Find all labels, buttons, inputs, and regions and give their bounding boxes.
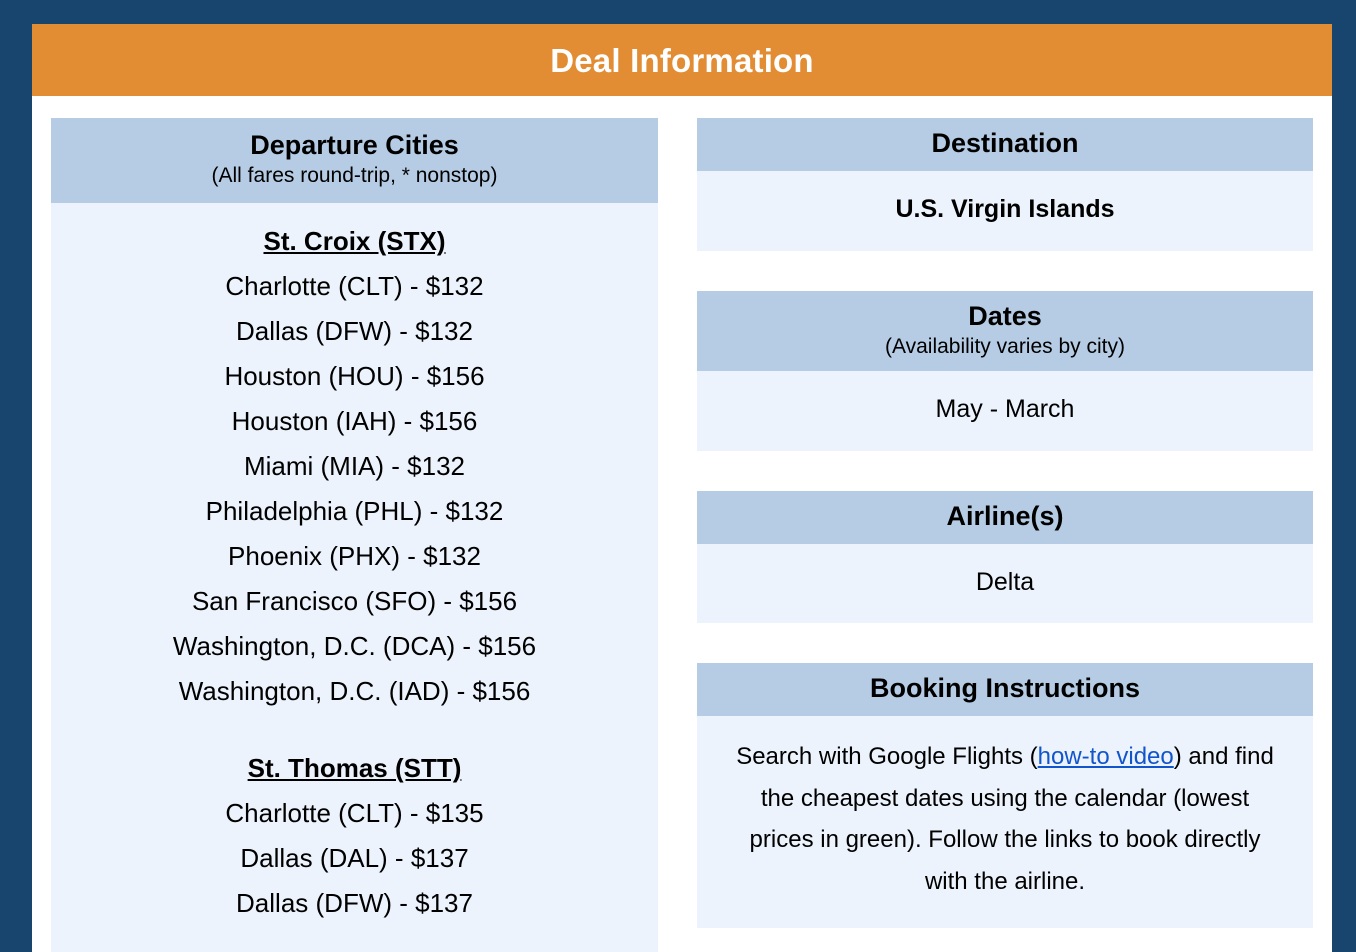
city-fare-row: Washington, D.C. (DCA) - $156 xyxy=(59,624,650,669)
booking-instructions-title: Booking Instructions xyxy=(707,672,1303,705)
city-group-stt: St. Thomas (STT) Charlotte (CLT) - $135 … xyxy=(59,748,650,926)
booking-text-before-link: Search with Google Flights ( xyxy=(736,743,1037,770)
how-to-video-link[interactable]: how-to video xyxy=(1038,743,1174,770)
departure-cities-title: Departure Cities xyxy=(61,129,648,162)
destination-card: Destination U.S. Virgin Islands xyxy=(697,118,1313,251)
dates-subtitle: (Availability varies by city) xyxy=(707,334,1303,360)
page-title: Deal Information xyxy=(550,44,814,77)
dates-header: Dates (Availability varies by city) xyxy=(697,291,1313,371)
booking-instructions-header: Booking Instructions xyxy=(697,663,1313,716)
destination-value: U.S. Virgin Islands xyxy=(697,171,1313,251)
right-column: Destination U.S. Virgin Islands Dates (A… xyxy=(697,118,1313,928)
booking-instructions-card: Booking Instructions Search with Google … xyxy=(697,663,1313,928)
city-fare-row: Charlotte (CLT) - $135 xyxy=(59,791,650,836)
city-fare-row: Dallas (DFW) - $137 xyxy=(59,881,650,926)
dates-title: Dates xyxy=(707,300,1303,333)
dates-card: Dates (Availability varies by city) May … xyxy=(697,291,1313,451)
deal-information-header-bar: Deal Information xyxy=(32,24,1332,96)
departure-cities-subtitle: (All fares round-trip, * nonstop) xyxy=(61,163,648,189)
city-fare-row: Houston (IAH) - $156 xyxy=(59,399,650,444)
airlines-header: Airline(s) xyxy=(697,491,1313,544)
dates-value: May - March xyxy=(697,371,1313,451)
city-fare-row: Miami (MIA) - $132 xyxy=(59,444,650,489)
departure-cities-body: St. Croix (STX) Charlotte (CLT) - $132 D… xyxy=(51,203,658,952)
deal-sheet: Deal Information Departure Cities (All f… xyxy=(32,24,1332,952)
city-fare-row: Dallas (DAL) - $137 xyxy=(59,836,650,881)
airlines-value: Delta xyxy=(697,544,1313,624)
airlines-card: Airline(s) Delta xyxy=(697,491,1313,624)
departure-cities-header: Departure Cities (All fares round-trip, … xyxy=(51,118,658,203)
city-fare-row: Houston (HOU) - $156 xyxy=(59,354,650,399)
airlines-title: Airline(s) xyxy=(707,500,1303,533)
city-fare-row: Washington, D.C. (IAD) - $156 xyxy=(59,669,650,714)
page-root: Deal Information Departure Cities (All f… xyxy=(0,0,1356,952)
left-column: Departure Cities (All fares round-trip, … xyxy=(51,118,658,952)
city-fare-row: San Francisco (SFO) - $156 xyxy=(59,579,650,624)
content-columns: Departure Cities (All fares round-trip, … xyxy=(32,96,1332,952)
city-fare-row: Dallas (DFW) - $132 xyxy=(59,309,650,354)
departure-cities-card: Departure Cities (All fares round-trip, … xyxy=(51,118,658,952)
city-group-title: St. Croix (STX) xyxy=(59,221,650,261)
booking-instructions-body: Search with Google Flights (how-to video… xyxy=(697,716,1313,928)
destination-header: Destination xyxy=(697,118,1313,171)
city-fare-row: Charlotte (CLT) - $132 xyxy=(59,264,650,309)
city-fare-row: Phoenix (PHX) - $132 xyxy=(59,534,650,579)
destination-title: Destination xyxy=(707,127,1303,160)
city-group-title: St. Thomas (STT) xyxy=(59,748,650,788)
city-group-stx: St. Croix (STX) Charlotte (CLT) - $132 D… xyxy=(59,221,650,714)
city-fare-row: Philadelphia (PHL) - $132 xyxy=(59,489,650,534)
